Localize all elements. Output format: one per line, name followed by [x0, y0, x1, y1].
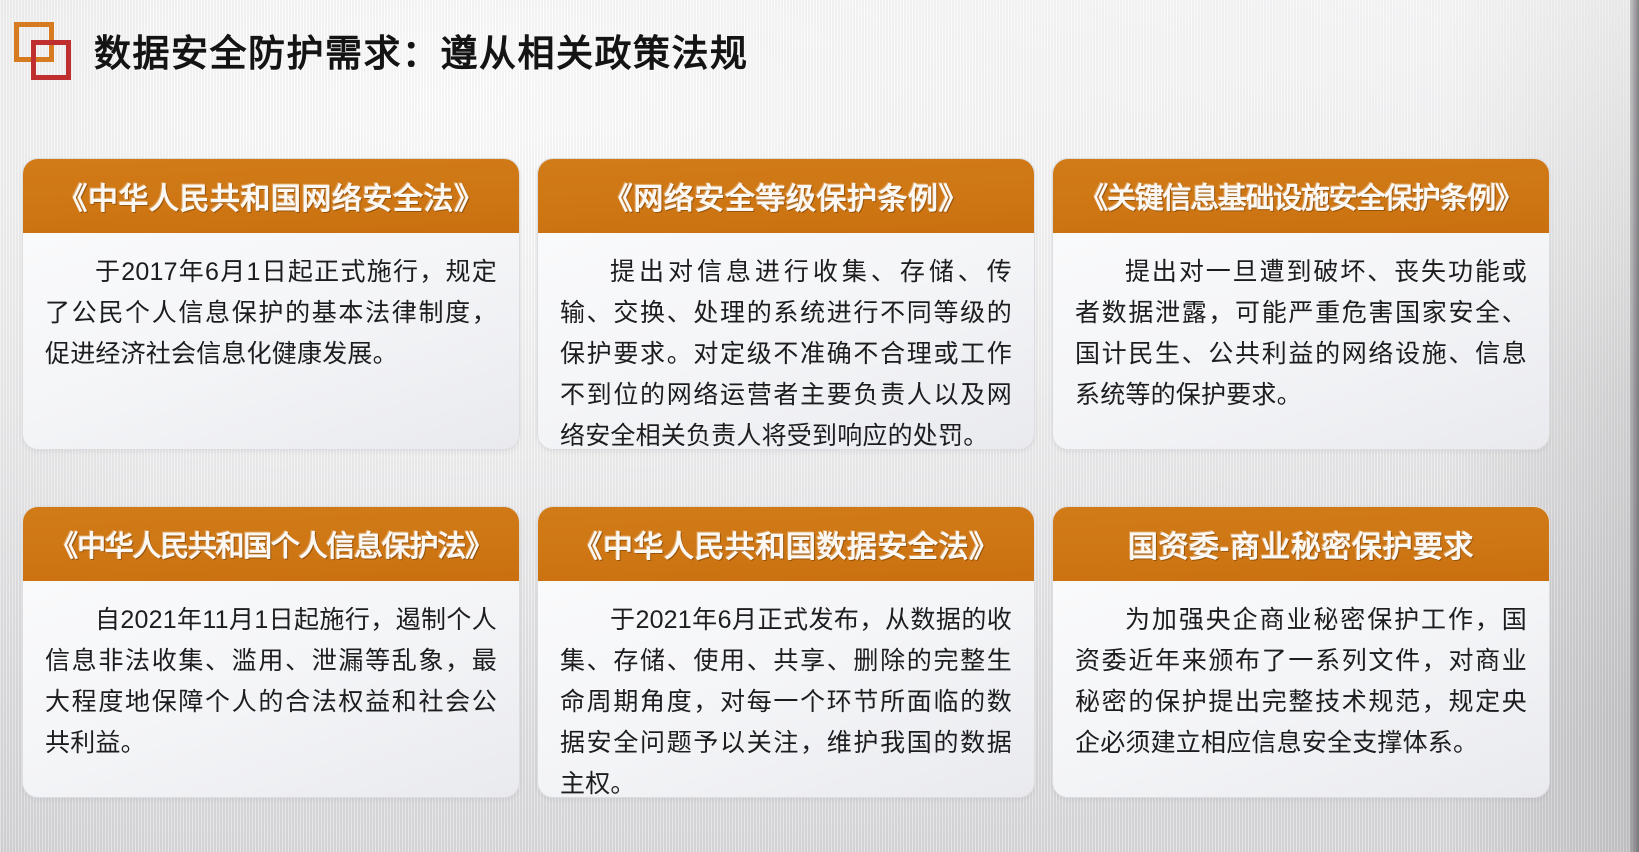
policy-card-6: 国资委-商业秘密保护要求 为加强央企商业秘密保护工作，国资委近年来颁布了一系列文…	[1052, 506, 1550, 798]
policy-card-1-header: 《中华人民共和国网络安全法》	[23, 159, 519, 233]
policy-card-4-header: 《中华人民共和国个人信息保护法》	[23, 507, 519, 581]
policy-card-4: 《中华人民共和国个人信息保护法》 自2021年11月1日起施行，遏制个人信息非法…	[22, 506, 520, 798]
policy-card-1: 《中华人民共和国网络安全法》 于2017年6月1日起正式施行，规定了公民个人信息…	[22, 158, 520, 450]
logo-square-red-icon	[31, 40, 71, 80]
policy-card-3-title: 《关键信息基础设施安全保护条例》	[1079, 175, 1522, 217]
policy-card-2-title: 《网络安全等级保护条例》	[603, 174, 969, 218]
slide-content: 数据安全防护需求：遵从相关政策法规 《中华人民共和国网络安全法》 于2017年6…	[0, 0, 1639, 852]
policy-card-5-title: 《中华人民共和国数据安全法》	[573, 522, 1000, 566]
policy-card-6-body: 为加强央企商业秘密保护工作，国资委近年来颁布了一系列文件，对商业秘密的保护提出完…	[1053, 581, 1549, 797]
policy-card-3: 《关键信息基础设施安全保护条例》 提出对一旦遭到破坏、丧失功能或者数据泄露，可能…	[1052, 158, 1550, 450]
policy-card-6-header: 国资委-商业秘密保护要求	[1053, 507, 1549, 581]
policy-card-5: 《中华人民共和国数据安全法》 于2021年6月正式发布，从数据的收集、存储、使用…	[537, 506, 1035, 798]
policy-card-1-title: 《中华人民共和国网络安全法》	[58, 174, 485, 218]
slide-header: 数据安全防护需求：遵从相关政策法规	[0, 0, 1639, 100]
two-overlapping-squares-logo-icon	[12, 19, 74, 81]
policy-card-4-body: 自2021年11月1日起施行，遏制个人信息非法收集、滥用、泄漏等乱象，最大程度地…	[23, 581, 519, 797]
page-title: 数据安全防护需求：遵从相关政策法规	[94, 23, 749, 77]
policy-card-3-body: 提出对一旦遭到破坏、丧失功能或者数据泄露，可能严重危害国家安全、国计民生、公共利…	[1053, 233, 1549, 449]
policy-card-5-header: 《中华人民共和国数据安全法》	[538, 507, 1034, 581]
policy-card-6-title: 国资委-商业秘密保护要求	[1128, 522, 1474, 566]
policy-card-1-body: 于2017年6月1日起正式施行，规定了公民个人信息保护的基本法律制度，促进经济社…	[23, 233, 519, 449]
policy-card-grid: 《中华人民共和国网络安全法》 于2017年6月1日起正式施行，规定了公民个人信息…	[22, 158, 1567, 798]
policy-card-2: 《网络安全等级保护条例》 提出对信息进行收集、存储、传输、交换、处理的系统进行不…	[537, 158, 1035, 450]
policy-card-3-header: 《关键信息基础设施安全保护条例》	[1053, 159, 1549, 233]
policy-card-2-body: 提出对信息进行收集、存储、传输、交换、处理的系统进行不同等级的保护要求。对定级不…	[538, 233, 1034, 450]
policy-card-4-title: 《中华人民共和国个人信息保护法》	[49, 523, 492, 565]
policy-card-2-header: 《网络安全等级保护条例》	[538, 159, 1034, 233]
policy-card-5-body: 于2021年6月正式发布，从数据的收集、存储、使用、共享、删除的完整生命周期角度…	[538, 581, 1034, 798]
